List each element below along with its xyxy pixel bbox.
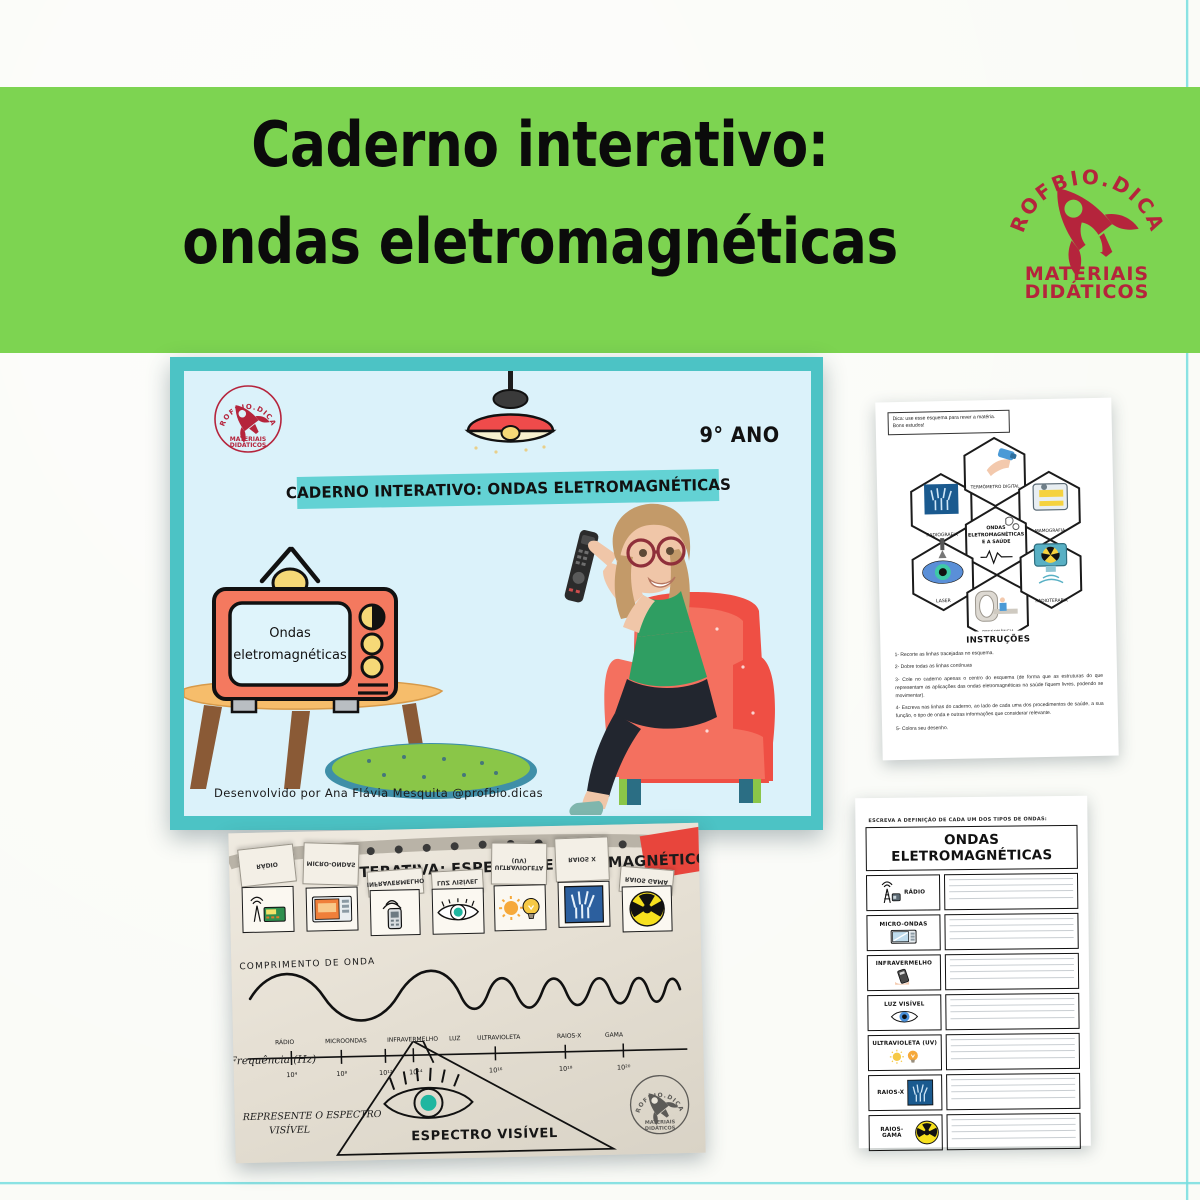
microwave-icon (891, 929, 917, 943)
visible-spectrum-prompt-line-1: REPRESENTE O ESPECTRO (243, 1109, 382, 1123)
table-row-answer-area[interactable] (944, 913, 1078, 950)
hex-label-laser: LASER (936, 597, 952, 603)
table-row: RAIOS-X (868, 1073, 1080, 1111)
page-title: Caderno interativo: ondas eletromagnétic… (90, 105, 990, 282)
xray-hand-icon (564, 885, 605, 924)
svg-text:DIDÁTICOS: DIDÁTICOS (230, 442, 267, 449)
hint-note-text: Dica: use esse esquema para rever a maté… (893, 414, 996, 429)
instructions-title: INSTRUÇÕES (892, 632, 1104, 646)
table-row-label-cell: ULTRAVIOLETA (UV) (868, 1034, 942, 1071)
spectrum-label: RÁDIO (275, 1039, 295, 1046)
table-row-label: LUZ VISÍVEL (884, 1002, 924, 1009)
notebook-flap-label: ULTRAVIOLETA (UV) (492, 856, 546, 871)
notebook-icon-card (242, 886, 295, 933)
table-row: RAIOS-GAMA (868, 1113, 1080, 1151)
hex-label-radioterapia: RADIOTERAPIA (1035, 597, 1067, 604)
instruction-step: 4- Escreva nas linhas do caderno, ao lad… (894, 701, 1106, 721)
notebook-flap-label: RAIOS X (568, 855, 596, 863)
table-row-answer-area[interactable] (945, 953, 1079, 990)
notebook-brand-stamp: PROFBIO.DICAS MATERIAIS DIDÁTICOS (628, 1073, 691, 1136)
notebook-flap[interactable]: MICRO-ONDAS (302, 842, 359, 886)
table-row-label: RÁDIO (904, 889, 925, 895)
eye-icon (890, 1009, 918, 1023)
page-title-line-2: ondas eletromagnéticas (153, 202, 927, 283)
cover-card-inner: PROFBIO.DICAS MATERIAIS DIDÁTICOS 9° ANO (184, 371, 811, 816)
girl-in-armchair-illustration (557, 491, 811, 816)
instruction-step: 2- Dobre todas as linhas contínuas (893, 660, 1105, 672)
notebook-flap-label: MICRO-ONDAS (306, 860, 355, 868)
svg-text:DIDÁTICOS: DIDÁTICOS (645, 1124, 676, 1132)
cover-card: PROFBIO.DICAS MATERIAIS DIDÁTICOS 9° ANO (170, 357, 823, 830)
notebook-icon-card (432, 888, 485, 935)
table-row-label: RAIOS-GAMA (872, 1127, 913, 1140)
hexagon-diagram: RADIOGRAFIA TERMÔMETRO DIGITAL (888, 432, 1104, 632)
visible-spectrum-prompt: REPRESENTE O ESPECTRO VISÍVEL (243, 1108, 382, 1140)
sun-bulb-icon (888, 1048, 922, 1064)
eye-icon (436, 898, 481, 925)
remote-control-icon (893, 968, 915, 984)
tv-screen-text-line-1: Ondas (269, 626, 311, 641)
hex-label-radiografia: RADIOGRAFIA (926, 531, 958, 538)
definitions-table-worksheet: ESCREVA A DEFINIÇÃO DE CADA UM DOS TIPOS… (855, 796, 1091, 1148)
table-row-label-cell: RAIOS-X (868, 1074, 942, 1111)
table-row-answer-area[interactable] (946, 1033, 1080, 1070)
remote-control-icon (564, 529, 600, 603)
table-row-answer-area[interactable] (945, 993, 1079, 1030)
tv-illustration: Ondas eletromagnéticas (206, 533, 431, 718)
radio-tower-icon (249, 895, 288, 924)
hex-center-line-1: ONDAS (986, 524, 1006, 530)
radio-tower-icon (881, 881, 901, 905)
table-row-label-cell: LUZ VISÍVEL (867, 994, 941, 1031)
table-row-label-cell: INFRAVERMELHO (867, 954, 941, 991)
notebook-icon-card (558, 881, 611, 928)
notebook-photo: INTERATIVA: ESPECTRO ELETROMAGNÉTICO RÁD… (228, 823, 705, 1164)
table-row-answer-area[interactable] (946, 1113, 1080, 1150)
table-row: LUZ VISÍVEL (867, 993, 1079, 1031)
instruction-step: 5- Colora seu desenho. (894, 721, 1106, 733)
xray-hand-icon (907, 1079, 933, 1105)
notebook-flap-label: RÁDIO (256, 861, 278, 870)
notebook-icon-card (622, 885, 673, 932)
table-row-label-cell: MICRO-ONDAS (866, 914, 940, 951)
table-row: MICRO-ONDAS (866, 913, 1078, 951)
cover-brand-stamp: PROFBIO.DICAS MATERIAIS DIDÁTICOS (212, 383, 284, 455)
table-row-answer-area[interactable] (946, 1073, 1080, 1110)
table-row-label-cell: RAIOS-GAMA (868, 1114, 942, 1151)
table-row-label: RAIOS-X (877, 1090, 904, 1096)
hint-note: Dica: use esse esquema para rever a maté… (887, 410, 1009, 435)
notebook-icon-card (306, 886, 359, 931)
table-title: ONDAS ELETROMAGNÉTICAS (865, 825, 1077, 871)
notebook-flap-label: LUZ VISÍVEL (437, 878, 478, 887)
table-row-label: MICRO-ONDAS (880, 922, 928, 929)
table-row-answer-area[interactable] (944, 873, 1078, 910)
grade-badge: 9° ANO (699, 423, 779, 447)
radiation-icon (628, 889, 667, 928)
notebook-flap[interactable]: RÁDIO (237, 844, 297, 888)
sun-bulb-icon (498, 892, 543, 923)
notebook-icon-card (494, 884, 547, 931)
notebook-flap-label: INFRAVERMELHO (366, 877, 424, 888)
page-title-line-1: Caderno interativo: (153, 105, 927, 186)
visible-spectrum-prompt-line-2: VISÍVEL (269, 1124, 310, 1139)
hex-label-mamografia: MAMOGRAFIA (1035, 527, 1065, 534)
table-row-label: ULTRAVIOLETA (UV) (872, 1041, 937, 1048)
microwave-icon (312, 896, 353, 923)
instruction-step: 1- Recorte as linhas tracejadas no esque… (892, 647, 1104, 659)
table-row-label: INFRAVERMELHO (876, 961, 932, 968)
cover-credit: Desenvolvido por Ana Flávia Mesquita @pr… (214, 786, 543, 800)
radiation-icon (915, 1119, 940, 1145)
table-row-label-cell: RÁDIO (866, 874, 940, 911)
table-row: ULTRAVIOLETA (UV) (868, 1033, 1080, 1071)
frequency-label: Frequência (Hz) (229, 1053, 316, 1067)
instruction-step: 3- Cole no caderno apenas o centro do es… (893, 673, 1105, 701)
notebook-flap[interactable]: RAIOS X (554, 836, 610, 882)
brand-logo: PROFBIO.DICAS MATERIAIS DIDÁTICOS (1000, 130, 1175, 305)
table-prompt: ESCREVA A DEFINIÇÃO DE CADA UM DOS TIPOS… (868, 816, 1077, 824)
notebook-icon-card (370, 889, 421, 936)
table-row: RÁDIO (866, 873, 1078, 911)
lamp-illustration (446, 371, 576, 454)
notebook-flap[interactable]: ULTRAVIOLETA (UV) (491, 842, 548, 885)
remote-control-icon (378, 894, 413, 931)
table-row: INFRAVERMELHO (867, 953, 1079, 991)
frequency-tick: 10⁴ (286, 1071, 297, 1079)
tv-screen-text-line-2: eletromagnéticas (233, 648, 347, 663)
svg-text:DIDÁTICOS: DIDÁTICOS (1025, 280, 1150, 303)
hexagon-worksheet: Dica: use esse esquema para rever a maté… (875, 398, 1118, 761)
